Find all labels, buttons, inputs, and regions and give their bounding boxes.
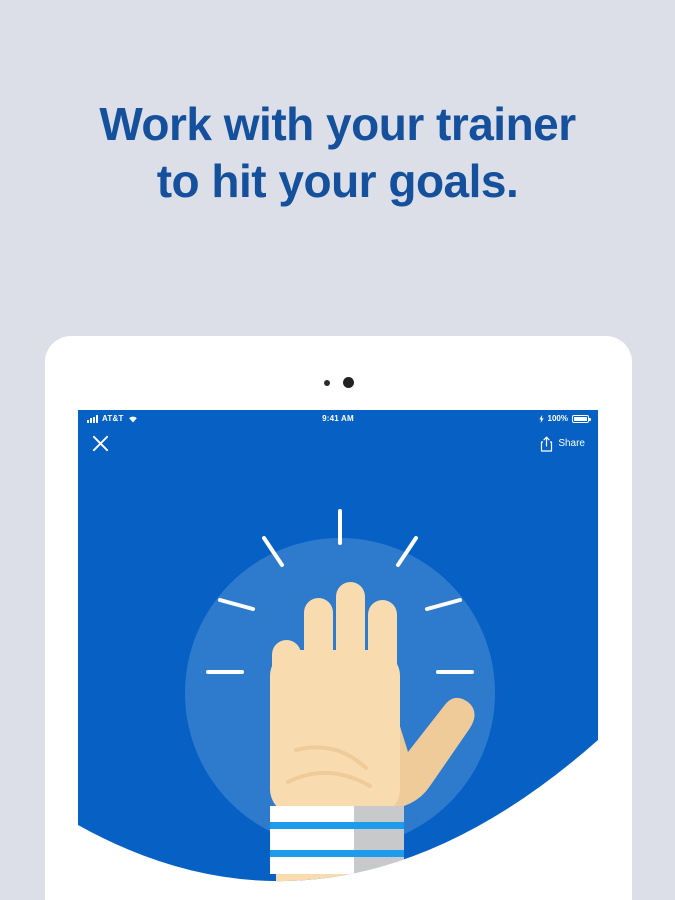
share-label: Share — [558, 438, 585, 449]
headline-line-1: Work with your trainer — [0, 96, 675, 153]
status-bar: AT&T 9:41 AM 100% — [78, 410, 598, 427]
tablet-screen: AT&T 9:41 AM 100% — [78, 410, 598, 900]
cellular-signal-icon — [87, 415, 98, 423]
waving-hand-illustration — [78, 410, 598, 900]
headline-line-2: to hit your goals. — [0, 153, 675, 210]
status-time: 9:41 AM — [322, 414, 354, 423]
share-icon — [540, 436, 553, 452]
carrier-label: AT&T — [102, 414, 124, 423]
share-button[interactable]: Share — [540, 436, 585, 452]
battery-full-icon — [572, 415, 589, 423]
nav-bar: Share — [78, 427, 598, 460]
charging-bolt-icon — [539, 415, 544, 423]
battery-percent-label: 100% — [548, 414, 568, 423]
tablet-device-frame: AT&T 9:41 AM 100% — [45, 336, 632, 900]
wifi-icon — [128, 415, 138, 423]
sensor-dot-icon — [324, 380, 330, 386]
page-title: Work with your trainer to hit your goals… — [0, 96, 675, 210]
wristband — [270, 806, 404, 874]
camera-dot-icon — [343, 377, 354, 388]
close-icon[interactable] — [91, 434, 110, 453]
bezel-sensors — [45, 377, 632, 388]
